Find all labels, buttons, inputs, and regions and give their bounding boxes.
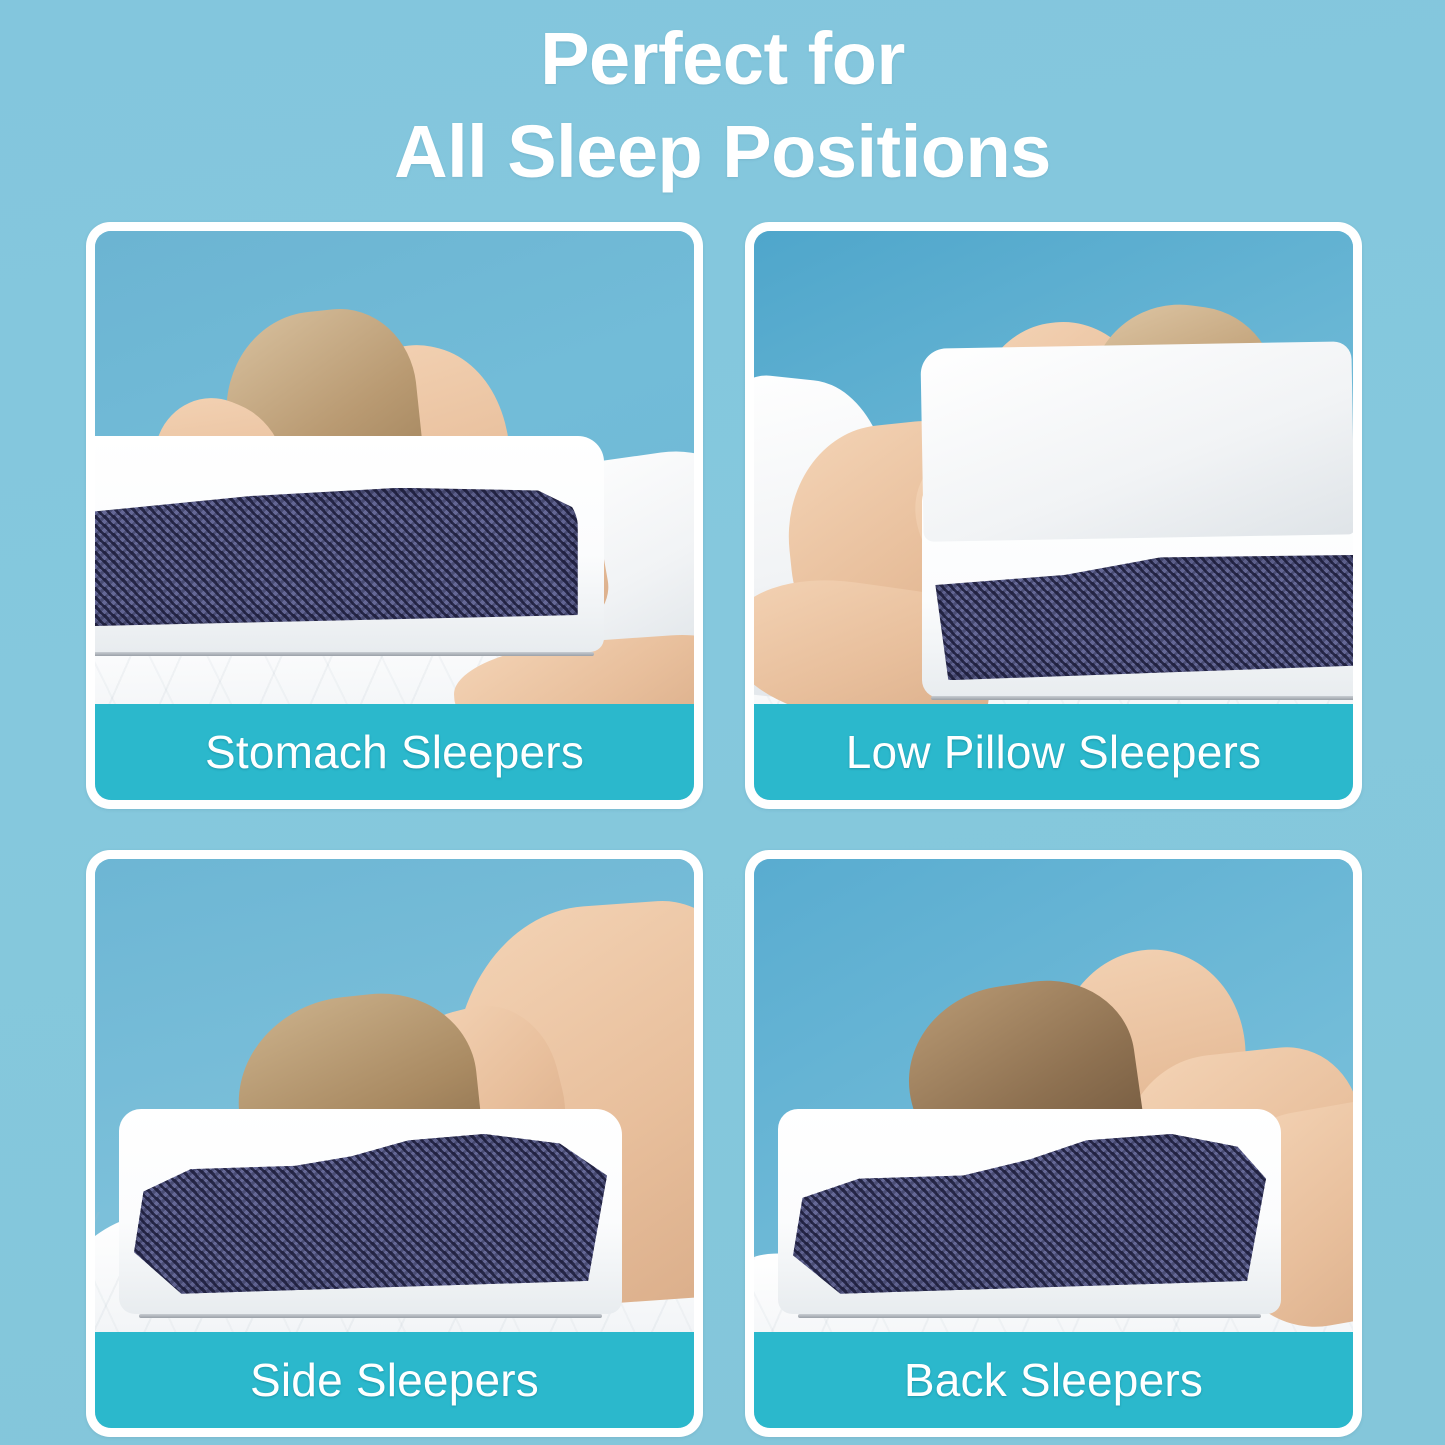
card-back-sleepers[interactable]: Back Sleepers [745, 850, 1362, 1437]
caption-text: Stomach Sleepers [205, 725, 584, 779]
headline-line-2: All Sleep Positions [0, 96, 1445, 189]
headline-line-1: Perfect for [0, 10, 1445, 96]
card-caption-side: Side Sleepers [95, 1332, 694, 1428]
card-inner: Low Pillow Sleepers [754, 231, 1353, 800]
memory-foam-pillow [119, 1109, 622, 1314]
card-low-pillow-sleepers[interactable]: Low Pillow Sleepers [745, 222, 1362, 809]
card-inner: Back Sleepers [754, 859, 1353, 1428]
product-feature-poster: Perfect for All Sleep Positions [0, 0, 1445, 1445]
pillow-base-seam [139, 1314, 602, 1318]
caption-text: Side Sleepers [250, 1353, 539, 1407]
pillow-base-seam [931, 696, 1353, 700]
card-caption-back: Back Sleepers [754, 1332, 1353, 1428]
pillow-base-seam [798, 1314, 1261, 1318]
caption-text: Back Sleepers [904, 1353, 1203, 1407]
card-inner: Side Sleepers [95, 859, 694, 1428]
caption-text: Low Pillow Sleepers [846, 725, 1261, 779]
page-title: Perfect for All Sleep Positions [0, 10, 1445, 189]
pillow-base-seam [95, 652, 594, 656]
card-caption-low-pillow: Low Pillow Sleepers [754, 704, 1353, 800]
card-caption-stomach: Stomach Sleepers [95, 704, 694, 800]
card-inner: Stomach Sleepers [95, 231, 694, 800]
upper-pillow [920, 341, 1353, 542]
memory-foam-pillow [95, 436, 604, 652]
memory-foam-pillow [778, 1109, 1281, 1314]
card-stomach-sleepers[interactable]: Stomach Sleepers [86, 222, 703, 809]
card-side-sleepers[interactable]: Side Sleepers [86, 850, 703, 1437]
pillow-mesh-panel [95, 488, 578, 626]
sleep-position-card-grid: Stomach Sleepers [86, 222, 1362, 1437]
